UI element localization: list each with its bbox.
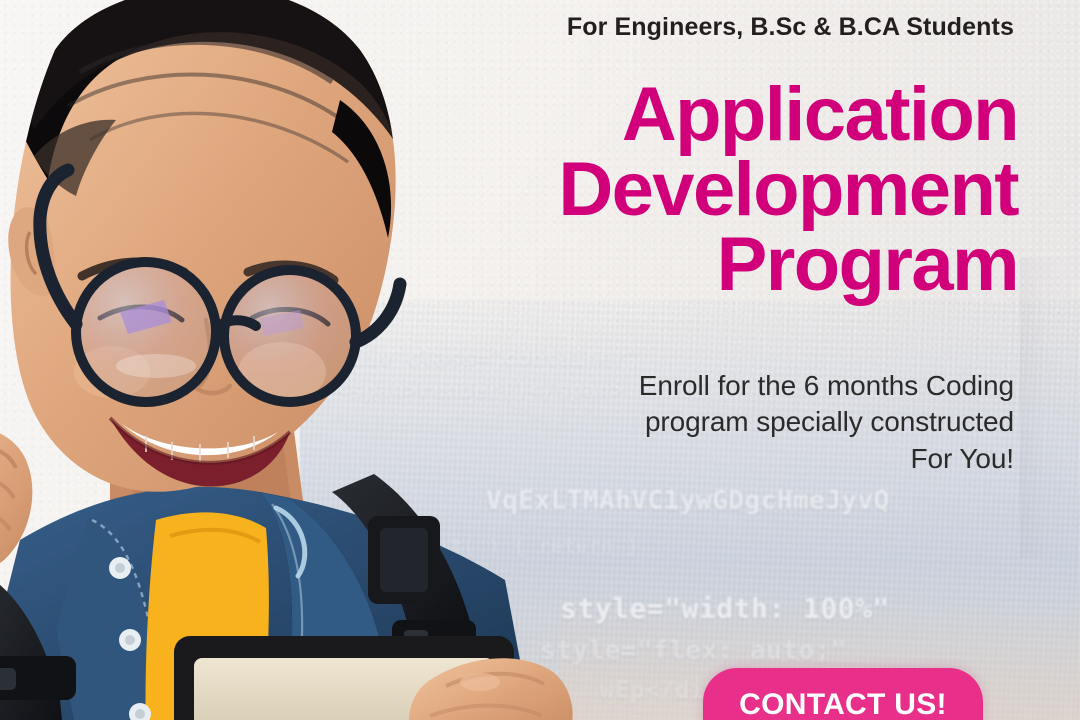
- eyebrow-text: For Engineers, B.Sc & B.CA Students: [300, 13, 1014, 42]
- promo-poster: div class="container" <span>render()</sp…: [0, 0, 1080, 720]
- subcopy-line-3: For You!: [330, 441, 1014, 477]
- subcopy-line-2: program specially constructed: [330, 404, 1014, 440]
- subcopy-line-1: Enroll for the 6 months Coding: [330, 368, 1014, 404]
- headline-line-2: Development: [240, 153, 1018, 228]
- contact-us-button[interactable]: CONTACT US!: [703, 668, 983, 720]
- tablet-and-hands: [174, 636, 573, 720]
- headline-line-1: Application: [240, 78, 1018, 153]
- background-panel-seam: [1020, 258, 1080, 558]
- contact-us-button-label: CONTACT US!: [739, 690, 947, 720]
- subcopy-text: Enroll for the 6 months Coding program s…: [330, 368, 1014, 477]
- page-title: Application Development Program: [240, 78, 1018, 303]
- headline-line-3: Program: [240, 228, 1018, 303]
